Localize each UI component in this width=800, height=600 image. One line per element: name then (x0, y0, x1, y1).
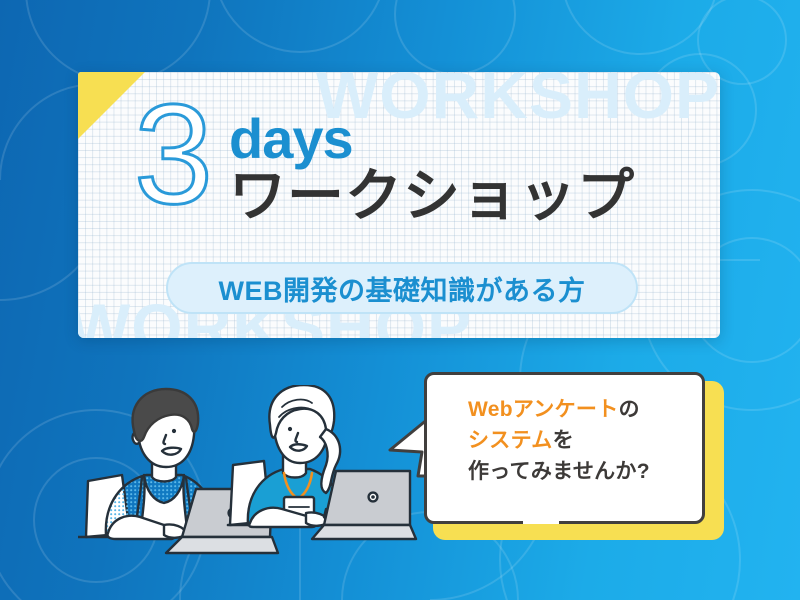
bubble-line-3: 作ってみませんか? (468, 456, 714, 487)
bubble-line2-highlight: システム (468, 429, 553, 452)
workshop-title-jp: ワークショップ (229, 167, 635, 227)
bubble-line1-rest: の (619, 398, 640, 421)
main-card: WORKSHOP WORKSHOP 3 days ワークショップ WEB開発の基… (78, 72, 720, 338)
bubble-line2-rest: を (553, 429, 574, 452)
speech-bubble-group: Webアンケートの システムを 作ってみませんか? (424, 372, 724, 540)
audience-pill: WEB開発の基礎知識がある方 (166, 262, 638, 314)
bubble-line1-highlight: Webアンケート (468, 398, 619, 421)
bubble-line-1: Webアンケートの (468, 394, 714, 425)
banner-stage: WORKSHOP WORKSHOP 3 days ワークショップ WEB開発の基… (0, 0, 800, 600)
speech-bubble-border-gap (523, 520, 559, 524)
headline-group: 3 days ワークショップ (134, 96, 635, 227)
days-unit-label: days (229, 112, 635, 165)
days-number: 3 (134, 88, 211, 223)
bubble-line-2: システムを (468, 425, 714, 456)
people-illustration (78, 385, 418, 600)
audience-pill-label: WEB開発の基礎知識がある方 (219, 269, 586, 308)
speech-bubble-text: Webアンケートの システムを 作ってみませんか? (468, 394, 714, 487)
